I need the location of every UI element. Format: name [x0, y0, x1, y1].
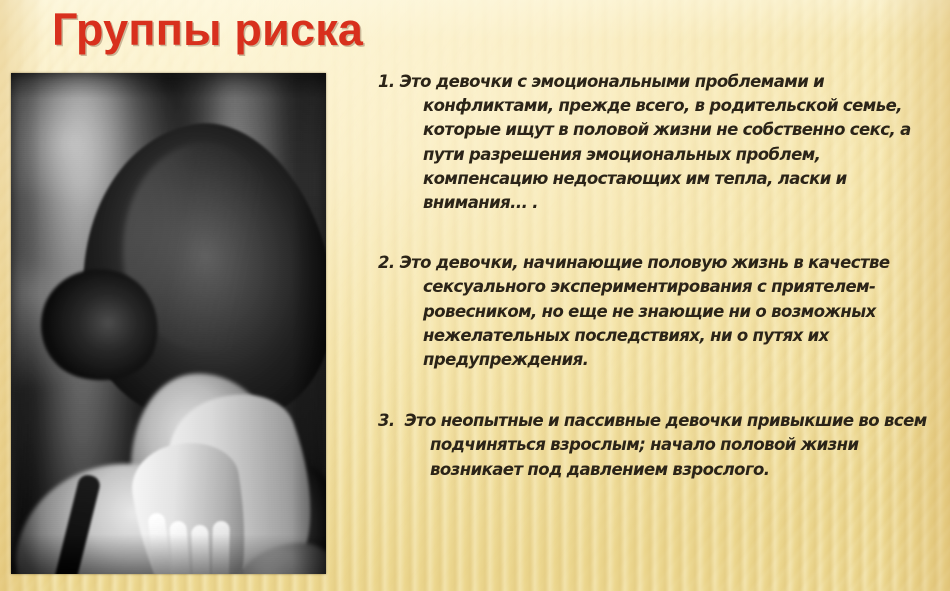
photo-edge-shading	[11, 73, 326, 574]
photo-girl-head-down	[11, 73, 326, 574]
slide-canvas: Группы риска 1. Это девочки с эмоциональ…	[0, 0, 950, 591]
risk-group-text-3: Это неопытные и пассивные девочки привык…	[404, 411, 926, 478]
risk-group-item-3: 3. Это неопытные и пассивные девочки при…	[378, 409, 938, 482]
risk-group-number-1: 1.	[378, 72, 395, 91]
photo-canvas	[11, 73, 326, 574]
body-text-block: 1. Это девочки с эмоциональными проблема…	[378, 70, 938, 482]
risk-group-item-2: 2. Это девочки, начинающие половую жизнь…	[378, 251, 938, 372]
risk-group-number-3: 3.	[378, 411, 395, 430]
risk-group-item-1: 1. Это девочки с эмоциональными проблема…	[378, 70, 938, 215]
slide-title: Группы риска	[52, 2, 363, 58]
risk-group-number-2: 2.	[378, 253, 395, 272]
risk-group-text-2: Это девочки, начинающие половую жизнь в …	[400, 253, 890, 369]
risk-group-text-1: Это девочки с эмоциональными проблемами …	[400, 72, 911, 212]
